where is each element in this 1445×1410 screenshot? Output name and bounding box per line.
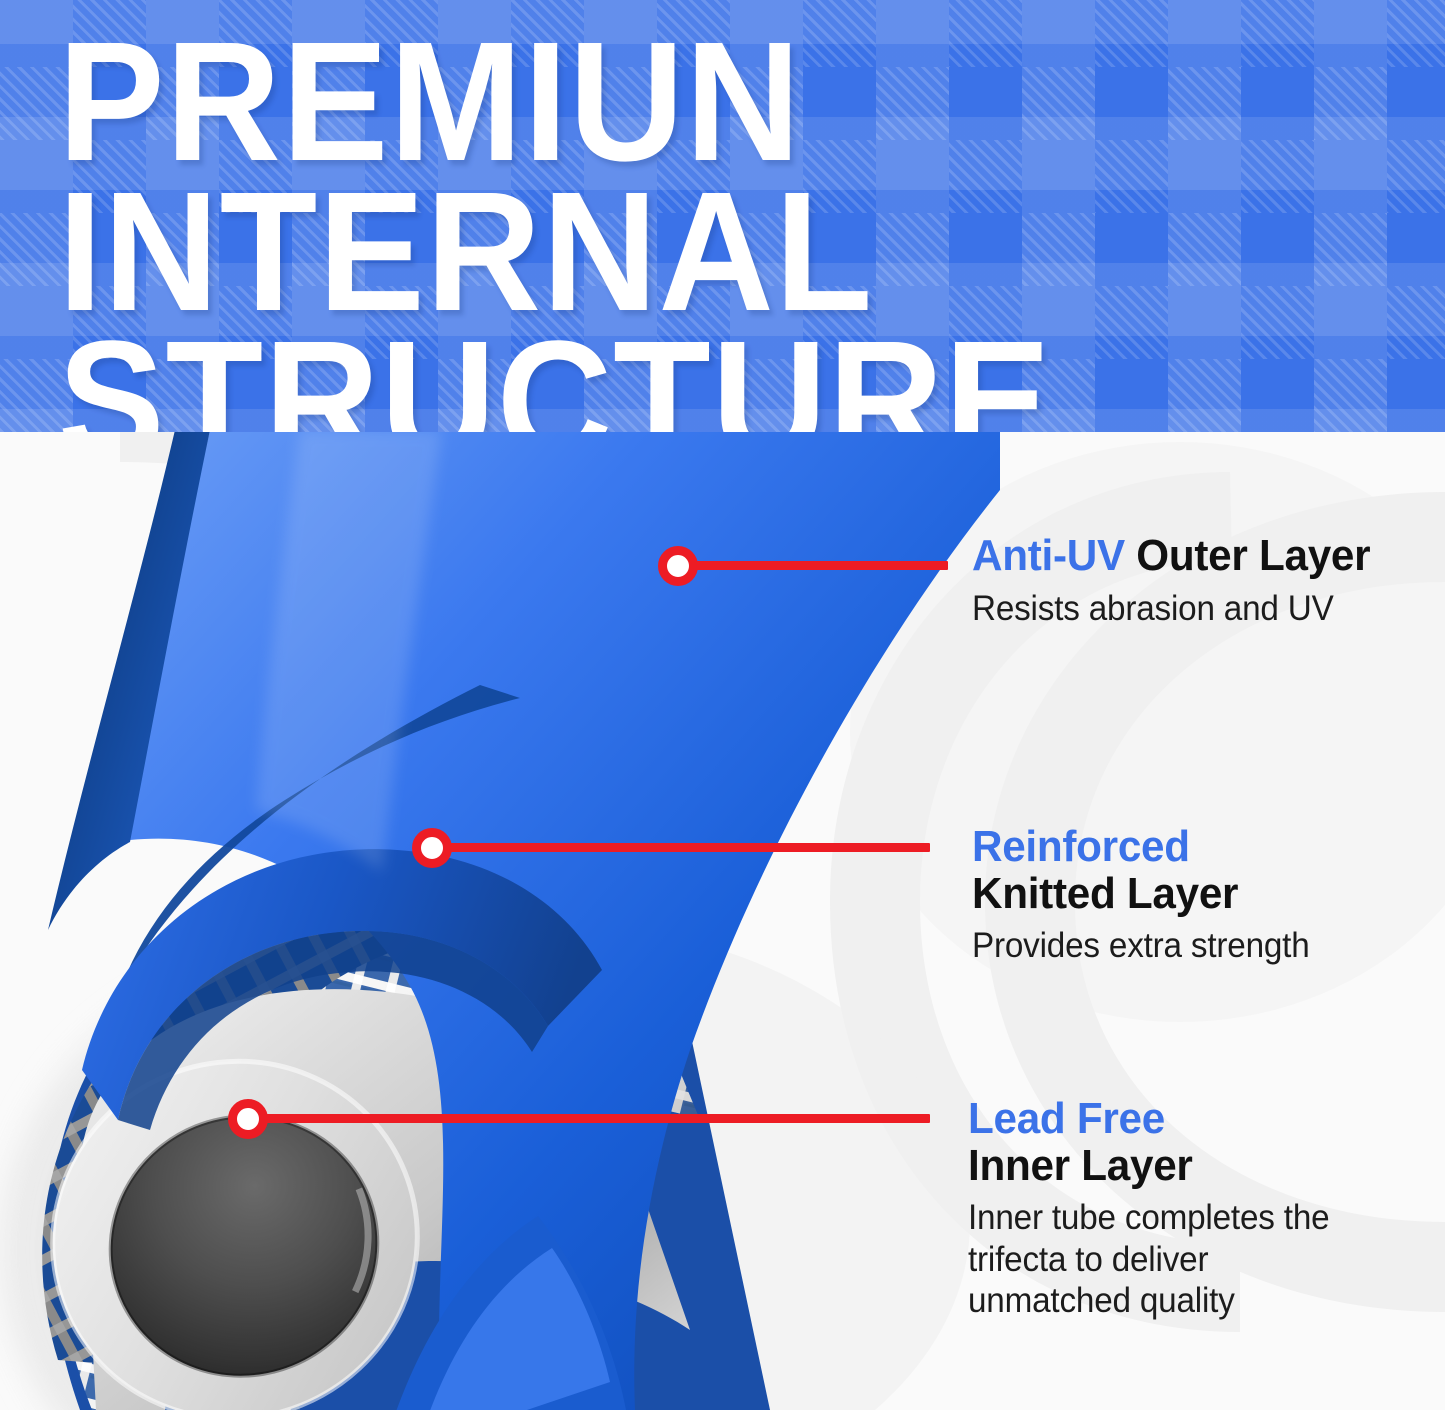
callout-accent-outer: Anti-UV [972, 531, 1125, 580]
callout-accent-inner: Lead Free [968, 1094, 1165, 1143]
callout-title-inner-accent: Lead Free [968, 1096, 1419, 1143]
hose-svg [0, 430, 1000, 1410]
callout-title-knitted-accent: Reinforced [972, 824, 1414, 871]
callout-marker-knitted[interactable] [412, 828, 452, 868]
callout-leader-line-inner [248, 1114, 930, 1123]
callout-subtitle-knitted: Provides extra strength [972, 925, 1409, 966]
callout-marker-outer[interactable] [658, 546, 698, 586]
callout-marker-inner[interactable] [228, 1099, 268, 1139]
callout-title-rest-outer: Outer Layer [1136, 531, 1370, 580]
header-banner: PREMIUN INTERNAL STRUCTURE [0, 0, 1445, 432]
callout-title-main-outer [1125, 531, 1136, 580]
callout-subtitle-inner: Inner tube completes the trifecta to del… [968, 1197, 1415, 1321]
callout-text-outer: Anti-UV Outer Layer Resists abrasion and… [972, 533, 1432, 629]
hose-cutaway-illustration [0, 430, 1000, 1410]
page-title: PREMIUN INTERNAL STRUCTURE [58, 28, 1336, 432]
callout-text-knitted: Reinforced Knitted Layer Provides extra … [972, 824, 1432, 967]
callout-subtitle-outer: Resists abrasion and UV [972, 588, 1409, 629]
callout-accent-knitted: Reinforced [972, 822, 1190, 871]
callout-title-knitted-main: Knitted Layer [972, 871, 1414, 918]
callout-title-inner-main: Inner Layer [968, 1143, 1419, 1190]
callout-title-outer: Anti-UV Outer Layer [972, 533, 1414, 580]
callout-leader-line-outer [678, 561, 948, 570]
product-infographic: PREMIUN INTERNAL STRUCTURE Anti-UV Outer… [0, 0, 1445, 1410]
callout-leader-line-knitted [432, 843, 930, 852]
callout-text-inner: Lead Free Inner Layer Inner tube complet… [968, 1096, 1438, 1321]
